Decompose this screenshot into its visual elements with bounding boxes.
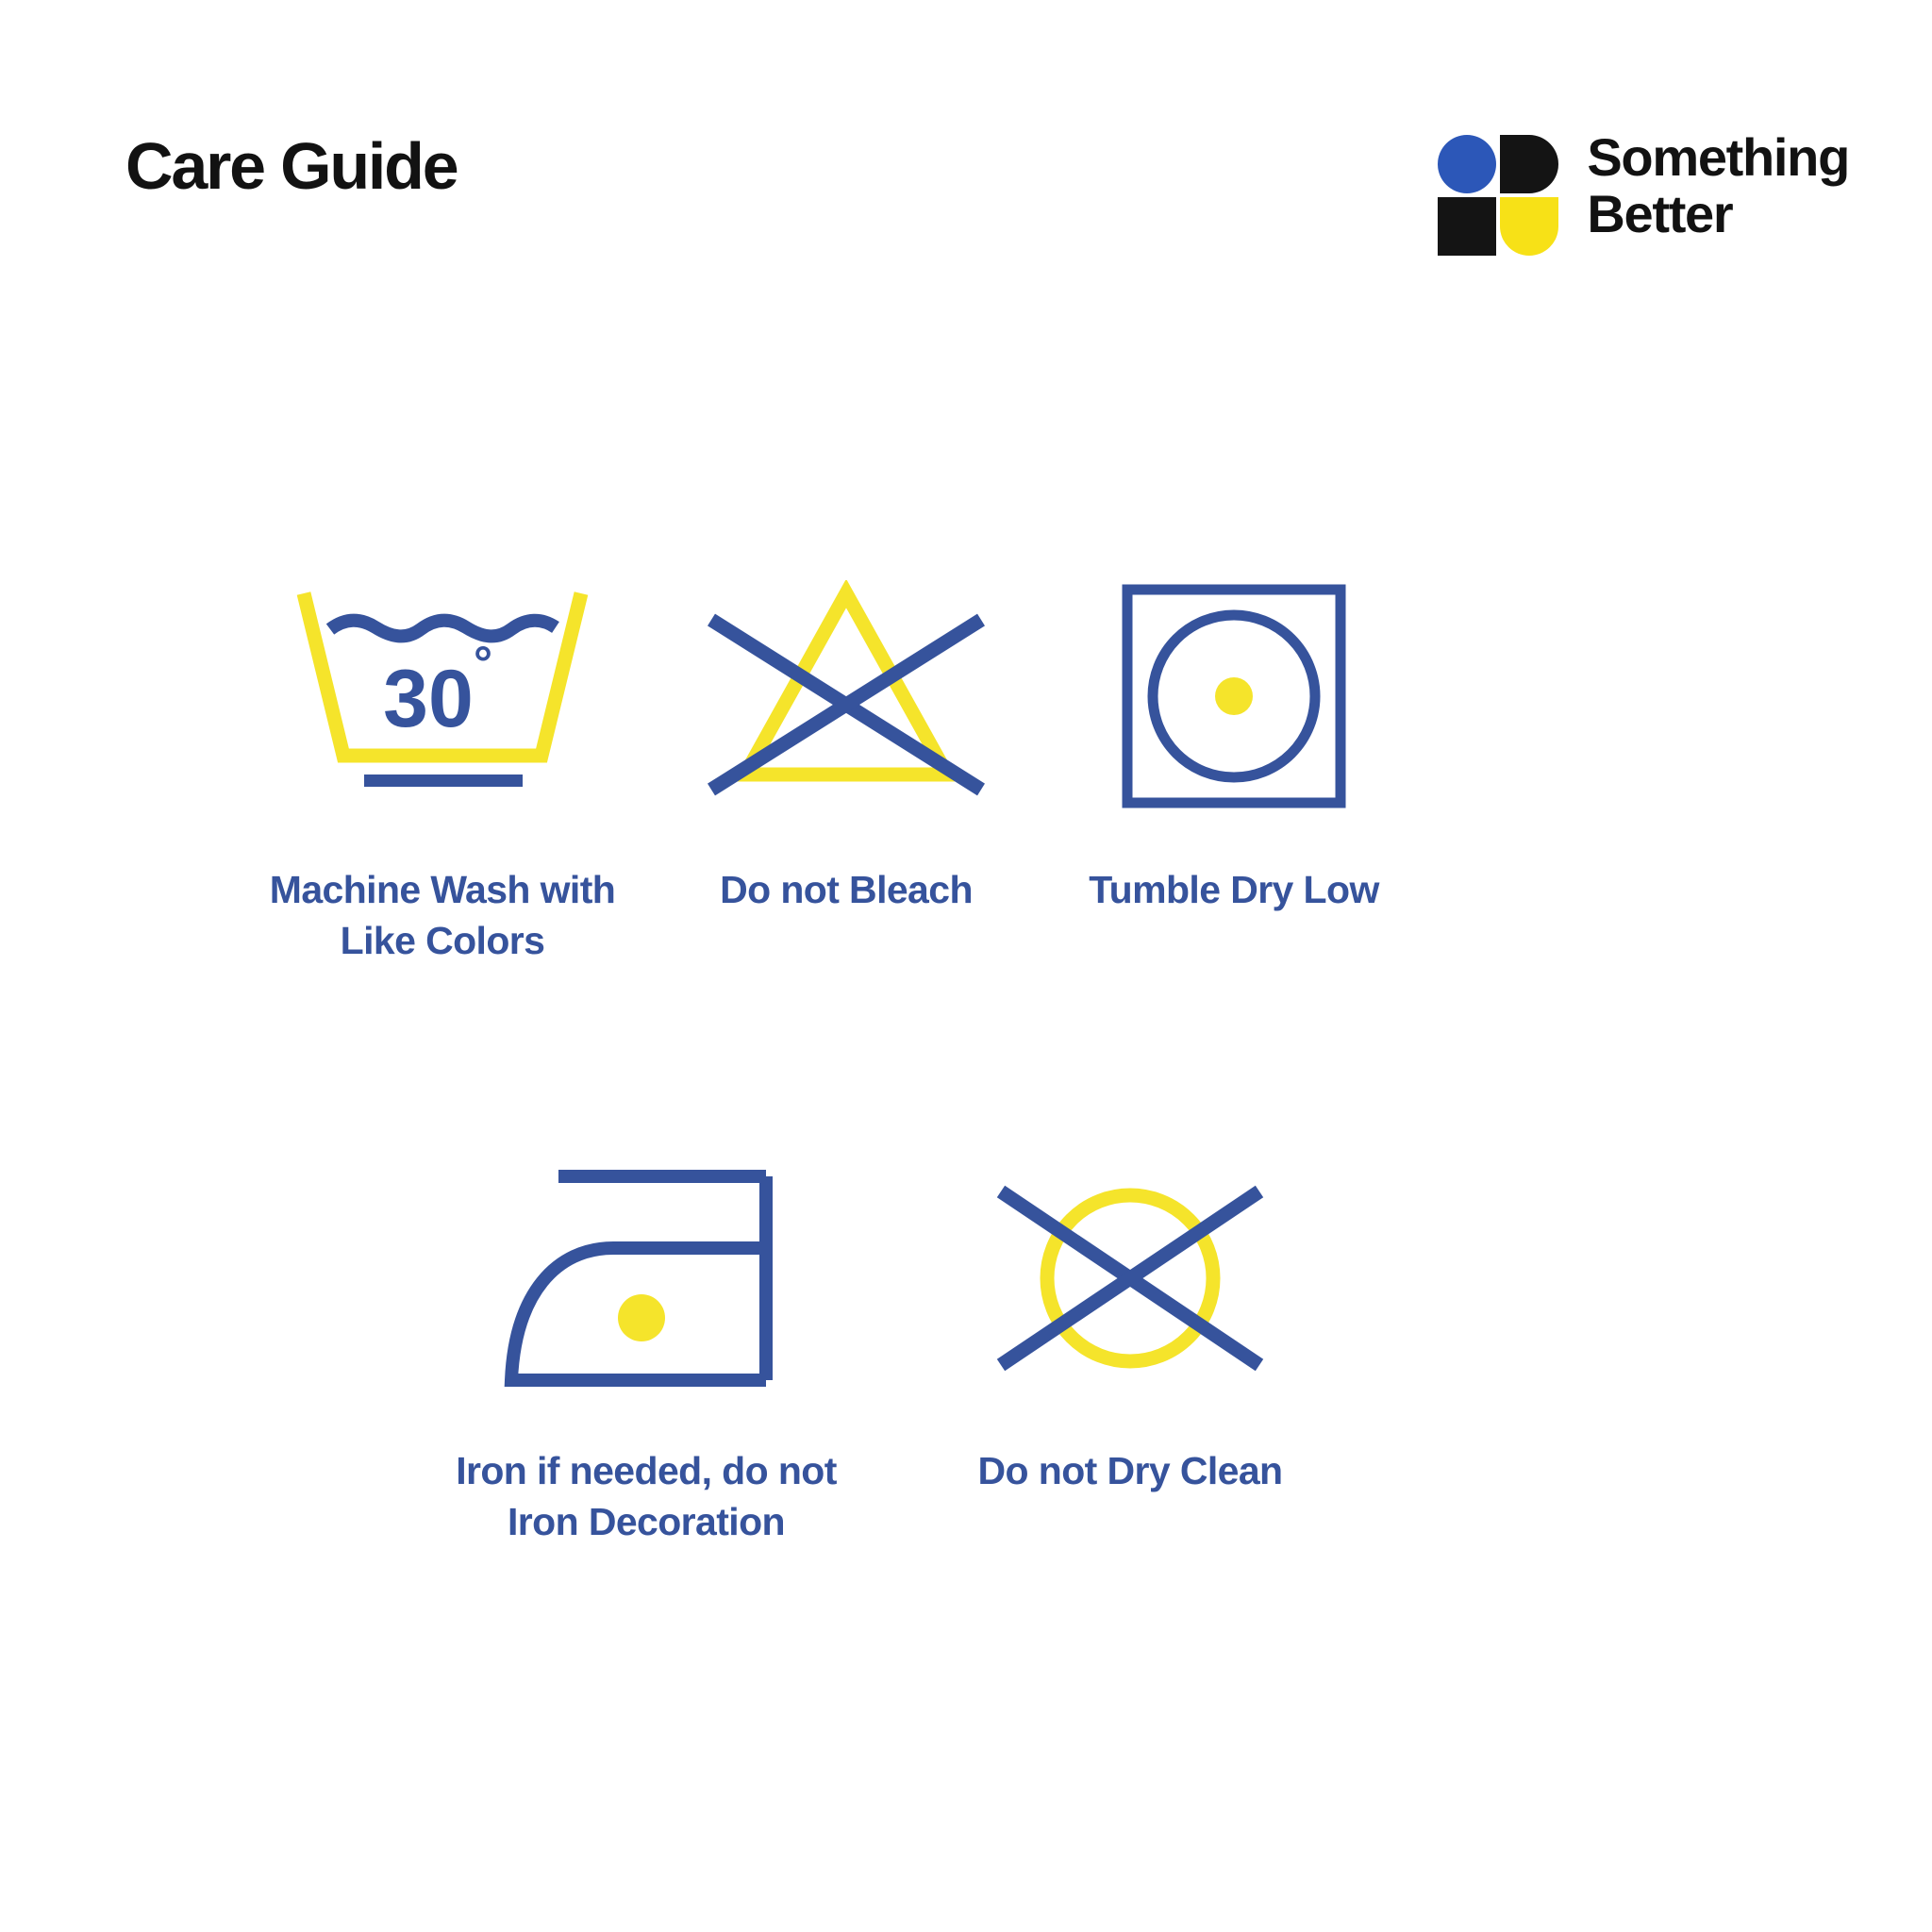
care-item-label-tumble-dry-low: Tumble Dry Low	[1089, 864, 1378, 915]
iron-icon	[491, 1161, 802, 1397]
wash-basin-icon: 30 °	[287, 580, 598, 816]
wash-temperature-text: 30	[383, 654, 474, 744]
do-not-bleach-icon	[691, 580, 1002, 816]
logo-black-d-icon	[1500, 135, 1558, 193]
care-item-machine-wash: 30 ° Machine Wash with Like Colors	[223, 566, 662, 966]
care-item-label-iron: Iron if needed, do not Iron Decoration	[456, 1445, 837, 1547]
iron-icon-wrapper	[491, 1147, 802, 1411]
brand-wordmark: Something Better	[1587, 129, 1849, 242]
tumble-dry-low-icon-wrapper	[1107, 566, 1361, 830]
care-item-do-not-bleach: Do not Bleach	[662, 566, 1030, 915]
care-item-tumble-dry-low: Tumble Dry Low	[1030, 566, 1438, 915]
brand-logo-mark	[1438, 135, 1558, 256]
care-item-do-not-dry-clean: Do not Dry Clean	[932, 1147, 1328, 1496]
brand-wordmark-line-1: Something	[1587, 129, 1849, 186]
brand-logo: Something Better	[1438, 135, 1849, 256]
brand-wordmark-line-2: Better	[1587, 186, 1849, 242]
do-not-dry-clean-icon	[974, 1161, 1286, 1397]
do-not-dry-clean-icon-wrapper	[974, 1147, 1286, 1411]
logo-black-square-icon	[1438, 197, 1496, 256]
care-symbol-row-1: 30 ° Machine Wash with Like Colors Do no…	[223, 566, 1438, 966]
do-not-bleach-icon-wrapper	[691, 566, 1002, 830]
tumble-dry-low-icon	[1107, 580, 1361, 816]
wash-basin-icon-wrapper: 30 °	[287, 566, 598, 830]
care-symbol-row-2: Iron if needed, do not Iron Decoration D…	[406, 1147, 1328, 1547]
tumble-dry-heat-dot	[1215, 677, 1253, 715]
care-item-label-machine-wash: Machine Wash with Like Colors	[270, 864, 615, 966]
page-title: Care Guide	[125, 132, 457, 202]
wash-gentle-bar	[364, 774, 523, 787]
care-item-label-do-not-bleach: Do not Bleach	[720, 864, 973, 915]
iron-heat-dot	[618, 1294, 665, 1341]
care-item-iron: Iron if needed, do not Iron Decoration	[406, 1147, 887, 1547]
wash-degree-symbol: °	[474, 637, 492, 690]
care-item-label-do-not-dry-clean: Do not Dry Clean	[978, 1445, 1283, 1496]
logo-blue-circle-icon	[1438, 135, 1496, 193]
logo-yellow-d-icon	[1500, 197, 1558, 256]
